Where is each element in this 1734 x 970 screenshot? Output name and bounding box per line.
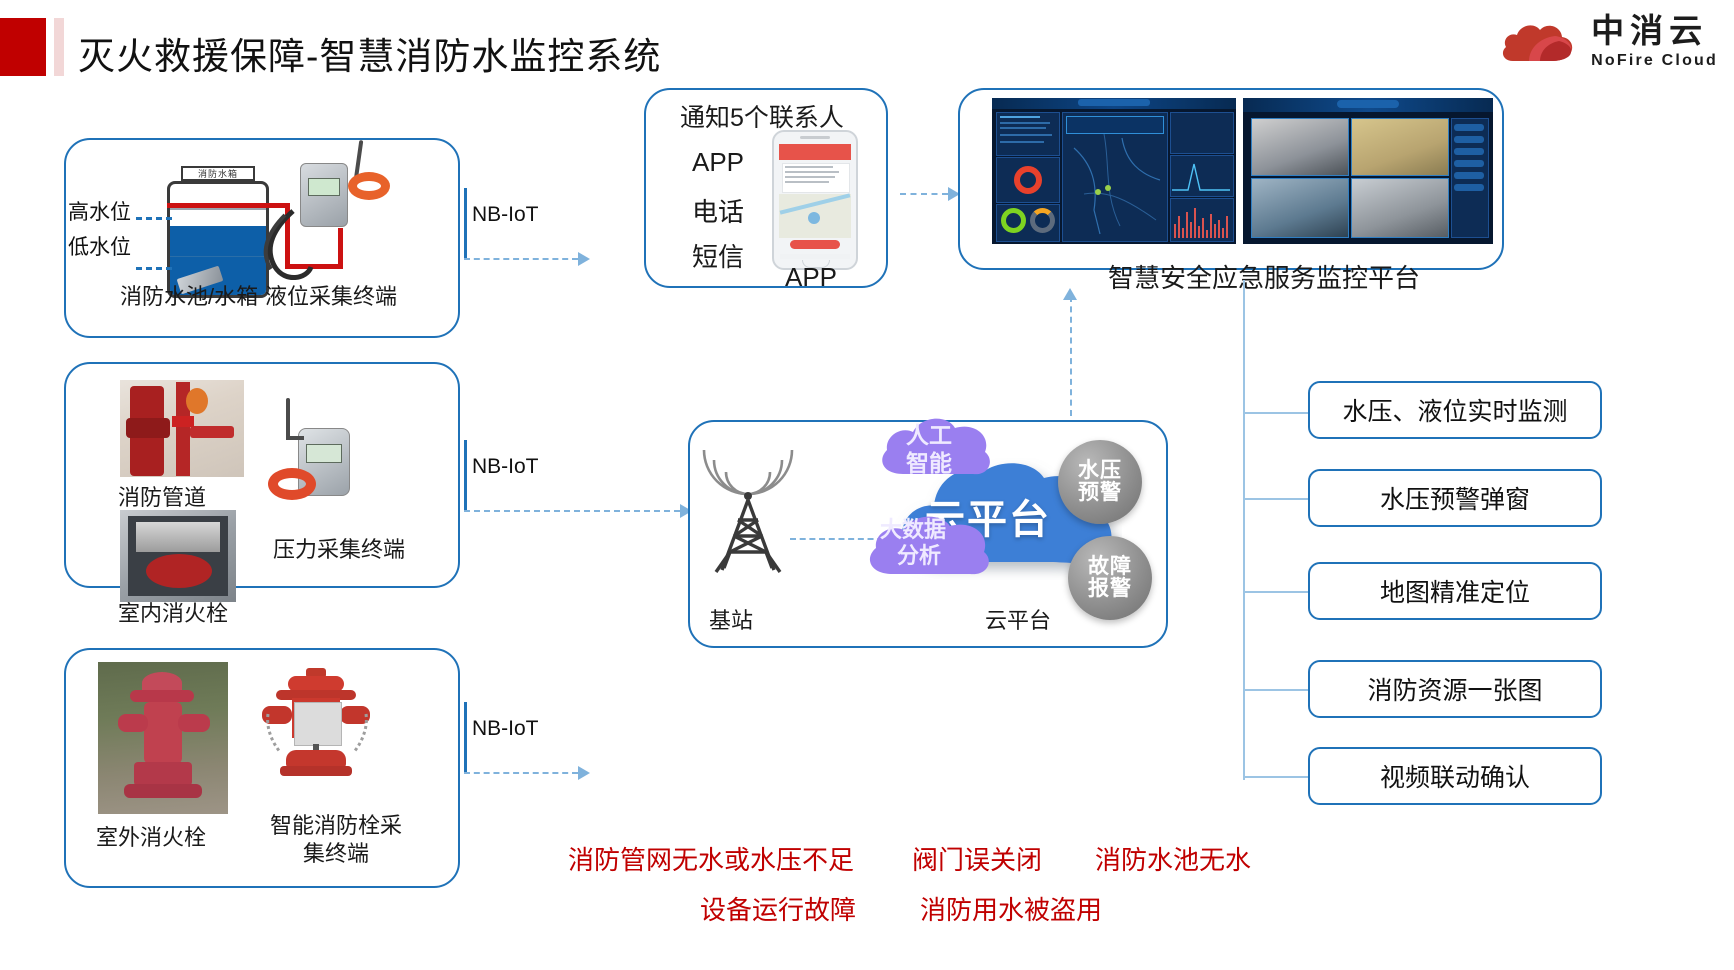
video-tile-1 xyxy=(1251,118,1349,176)
high-water-level-line xyxy=(136,217,172,220)
nbiot-dash-1 xyxy=(464,258,578,260)
caption-indoor-hydrant: 室内消火栓 xyxy=(118,596,228,628)
title-accent-block-light xyxy=(54,18,64,76)
feature-box-4[interactable]: 消防资源一张图 xyxy=(1308,660,1602,718)
cloud-to-platform-arrow xyxy=(1063,288,1077,300)
high-water-level-label: 高水位 xyxy=(68,196,131,226)
warning-2: 阀门误关闭 xyxy=(912,840,1042,877)
feature-branch-1 xyxy=(1243,412,1310,414)
brand-name-cn: 中消云 xyxy=(1591,14,1718,47)
monitoring-dashboard-screenshot[interactable] xyxy=(992,98,1236,244)
caption-cloud-platform: 云平台 xyxy=(985,603,1051,635)
feature-label-4: 消防资源一张图 xyxy=(1367,671,1542,707)
caption-fire-water-tank: 消防水池/水箱 xyxy=(120,279,258,311)
cloud-logo-icon xyxy=(1499,16,1577,68)
feature-label-2: 水压预警弹窗 xyxy=(1380,480,1530,516)
nbiot-rail-1 xyxy=(464,188,467,260)
low-water-level-label: 低水位 xyxy=(68,231,131,261)
base-station-tower-icon xyxy=(700,448,796,574)
platform-caption: 智慧安全应急服务监控平台 xyxy=(1108,258,1420,295)
rubber-ring-icon xyxy=(348,172,390,200)
warning-3: 消防水池无水 xyxy=(1095,840,1251,877)
alert-pressure-line2: 预警 xyxy=(1078,482,1122,504)
nbiot-arrow-3 xyxy=(578,766,590,780)
feature-box-5[interactable]: 视频联动确认 xyxy=(1308,747,1602,805)
pressure-ring-icon xyxy=(268,468,316,500)
feature-box-2[interactable]: 水压预警弹窗 xyxy=(1308,469,1602,527)
nbiot-label-2: NB-IoT xyxy=(472,455,539,479)
feature-branch-2 xyxy=(1243,498,1310,500)
dashboard-gauge-green xyxy=(1001,208,1026,233)
feature-tree-spine xyxy=(1243,280,1245,780)
caption-base-station: 基站 xyxy=(709,603,753,635)
feature-box-1[interactable]: 水压、液位实时监测 xyxy=(1308,381,1602,439)
nbiot-dash-2 xyxy=(464,510,680,512)
brand-name-en: NoFire Cloud xyxy=(1591,53,1718,69)
caption-outdoor-hydrant: 室外消火栓 xyxy=(96,820,206,852)
notify-to-platform-dash xyxy=(900,193,948,195)
alert-ball-fault[interactable]: 故障 报警 xyxy=(1068,536,1152,620)
nbiot-rail-2 xyxy=(464,440,467,512)
nbiot-label-1: NB-IoT xyxy=(472,203,539,227)
caption-level-terminal: 液位采集终端 xyxy=(265,279,397,311)
low-water-level-line xyxy=(136,267,172,270)
transmitter-display xyxy=(308,178,340,196)
red-conduit-right xyxy=(338,228,343,269)
page-title: 灭火救援保障-智慧消防水监控系统 xyxy=(78,26,661,80)
feature-label-3: 地图精准定位 xyxy=(1380,573,1530,609)
caption-smart-hydrant-terminal-line2: 集终端 xyxy=(303,836,369,868)
notify-channel-app: APP xyxy=(692,147,744,178)
cloud-to-platform-dash xyxy=(1070,296,1072,416)
nbiot-dash-3 xyxy=(464,772,578,774)
alert-ball-pressure[interactable]: 水压 预警 xyxy=(1058,440,1142,524)
pressure-display xyxy=(306,444,342,463)
feature-branch-3 xyxy=(1243,591,1310,593)
pressure-antenna-arm xyxy=(286,436,304,440)
alert-fault-line1: 故障 xyxy=(1088,556,1132,578)
phone-mockup-icon xyxy=(772,130,858,270)
feature-label-1: 水压、液位实时监测 xyxy=(1342,392,1567,428)
feature-box-3[interactable]: 地图精准定位 xyxy=(1308,562,1602,620)
dashboard-gauge-amber xyxy=(1030,208,1055,233)
pressure-antenna-icon xyxy=(286,398,290,438)
notify-channel-sms: 短信 xyxy=(692,237,744,274)
smart-hydrant-icon xyxy=(258,668,374,786)
video-wall-screenshot[interactable] xyxy=(1243,98,1493,244)
hydrant-terminal-box xyxy=(294,702,342,746)
notify-channel-phone: 电话 xyxy=(692,192,744,229)
alert-fault-line2: 报警 xyxy=(1088,578,1132,600)
brand-logo: 中消云 NoFire Cloud xyxy=(1499,14,1718,69)
ai-label-line2: 智能 xyxy=(906,444,952,478)
nbiot-label-3: NB-IoT xyxy=(472,717,539,741)
warning-5: 消防用水被盗用 xyxy=(920,890,1102,927)
bigdata-label-line2: 分析 xyxy=(897,538,941,570)
warning-1: 消防管网无水或水压不足 xyxy=(568,840,854,877)
tank-lid-label: 消防水箱 xyxy=(183,167,253,180)
title-accent-block xyxy=(0,18,46,76)
nbiot-rail-3 xyxy=(464,702,467,774)
feature-branch-4 xyxy=(1243,689,1310,691)
feature-branch-5 xyxy=(1243,776,1310,778)
dashboard-donut-alarm xyxy=(1014,166,1042,194)
caption-pressure-terminal: 压力采集终端 xyxy=(273,532,405,564)
video-tile-3 xyxy=(1251,178,1349,238)
tank-waterline-high xyxy=(170,208,266,210)
video-tile-4 xyxy=(1351,178,1449,238)
photo-indoor-hydrant xyxy=(120,510,236,602)
video-tile-2 xyxy=(1351,118,1449,176)
tank-waterline-mid xyxy=(170,256,266,257)
warning-4: 设备运行故障 xyxy=(700,890,856,927)
caption-fire-pipe: 消防管道 xyxy=(118,480,206,512)
nbiot-arrow-1 xyxy=(578,252,590,266)
phone-caption: APP xyxy=(785,262,837,293)
photo-fire-pipe xyxy=(120,380,244,477)
photo-outdoor-hydrant xyxy=(98,662,228,814)
alert-pressure-line1: 水压 xyxy=(1078,460,1122,482)
notify-title: 通知5个联系人 xyxy=(680,98,844,134)
feature-label-5: 视频联动确认 xyxy=(1380,758,1530,794)
